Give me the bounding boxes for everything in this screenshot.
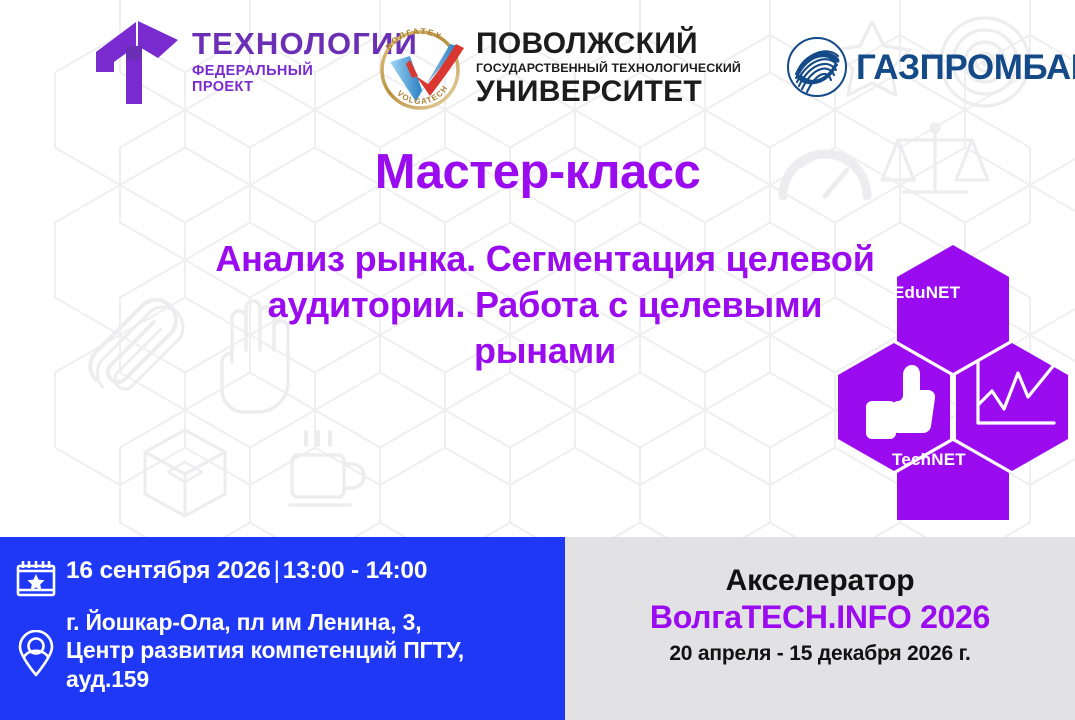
- logo-gazprombank-label: ГАЗПРОМБАНК: [856, 50, 1075, 85]
- event-datetime: 16 сентября 2026|13:00 - 14:00: [66, 559, 565, 584]
- event-details-panel: 16 сентября 2026|13:00 - 14:00 г. Йошкар…: [0, 537, 565, 720]
- event-icon-column: [10, 559, 62, 720]
- svg-text:ВОЛГАТЕХ: ВОЛГАТЕХ: [383, 26, 444, 52]
- map-pin-icon: [15, 630, 57, 683]
- event-address-line2: Центр развития компетенций ПГТУ,: [66, 636, 565, 665]
- logo-university-line2: ГОСУДАРСТВЕННЫЙ ТЕХНОЛОГИЧЕСКИЙ: [476, 62, 741, 74]
- event-time: 13:00 - 14:00: [283, 557, 428, 584]
- logo-volgatech-university: ВОЛГАТЕХ VOLGATECH ПОВОЛЖСКИЙ ГОСУДАРСТВ…: [370, 18, 741, 118]
- poster-canvas: ТЕХНОЛОГИИ ФЕДЕРАЛЬНЫЙ ПРОЕКТ: [0, 0, 1075, 720]
- footer-strip: 16 сентября 2026|13:00 - 14:00 г. Йошкар…: [0, 537, 1075, 720]
- program-accelerator-label: Акселератор: [565, 565, 1075, 597]
- hexagon-label-technet: TechNET: [892, 450, 966, 470]
- program-panel: Акселератор ВолгаTECH.INFO 2026 20 апрел…: [565, 537, 1075, 720]
- page-title: Мастер-класс: [0, 148, 1075, 198]
- gazprombank-globe-icon: [786, 36, 848, 98]
- headings-block: Мастер-класс Анализ рынка. Сегментация ц…: [0, 148, 1075, 374]
- logo-federal-project-line2a: ФЕДЕРАЛЬНЫЙ: [192, 63, 313, 79]
- event-date: 16 сентября 2026: [66, 557, 271, 584]
- program-period: 20 апреля - 15 декабря 2026 г.: [565, 643, 1075, 665]
- page-subtitle: Анализ рынка. Сегментация целевой аудито…: [0, 236, 1075, 374]
- event-separator: |: [271, 557, 283, 584]
- logo-gazprombank: ГАЗПРОМБАНК: [786, 36, 1075, 98]
- volgatech-emblem-icon: ВОЛГАТЕХ VOLGATECH: [370, 18, 470, 118]
- event-text-column: 16 сентября 2026|13:00 - 14:00 г. Йошкар…: [62, 559, 565, 720]
- event-address-line1: г. Йошкар-Ола, пл им Ленина, 3,: [66, 608, 565, 637]
- logo-university-line1: ПОВОЛЖСКИЙ: [476, 29, 741, 59]
- federal-project-mark-icon: [92, 16, 184, 108]
- event-address: г. Йошкар-Ола, пл им Ленина, 3, Центр ра…: [66, 608, 565, 695]
- logo-bar: ТЕХНОЛОГИИ ФЕДЕРАЛЬНЫЙ ПРОЕКТ: [0, 0, 1075, 125]
- logo-university-line3: УНИВЕРСИТЕТ: [476, 77, 741, 107]
- program-brand: ВолгаTECH.INFO 2026: [565, 601, 1075, 635]
- calendar-star-icon: [15, 559, 57, 606]
- event-address-line3: ауд.159: [66, 665, 565, 694]
- logo-federal-project-line2b: ПРОЕКТ: [192, 79, 253, 95]
- coffee-cup-icon: [290, 432, 364, 505]
- cube-3d-icon: [145, 430, 225, 516]
